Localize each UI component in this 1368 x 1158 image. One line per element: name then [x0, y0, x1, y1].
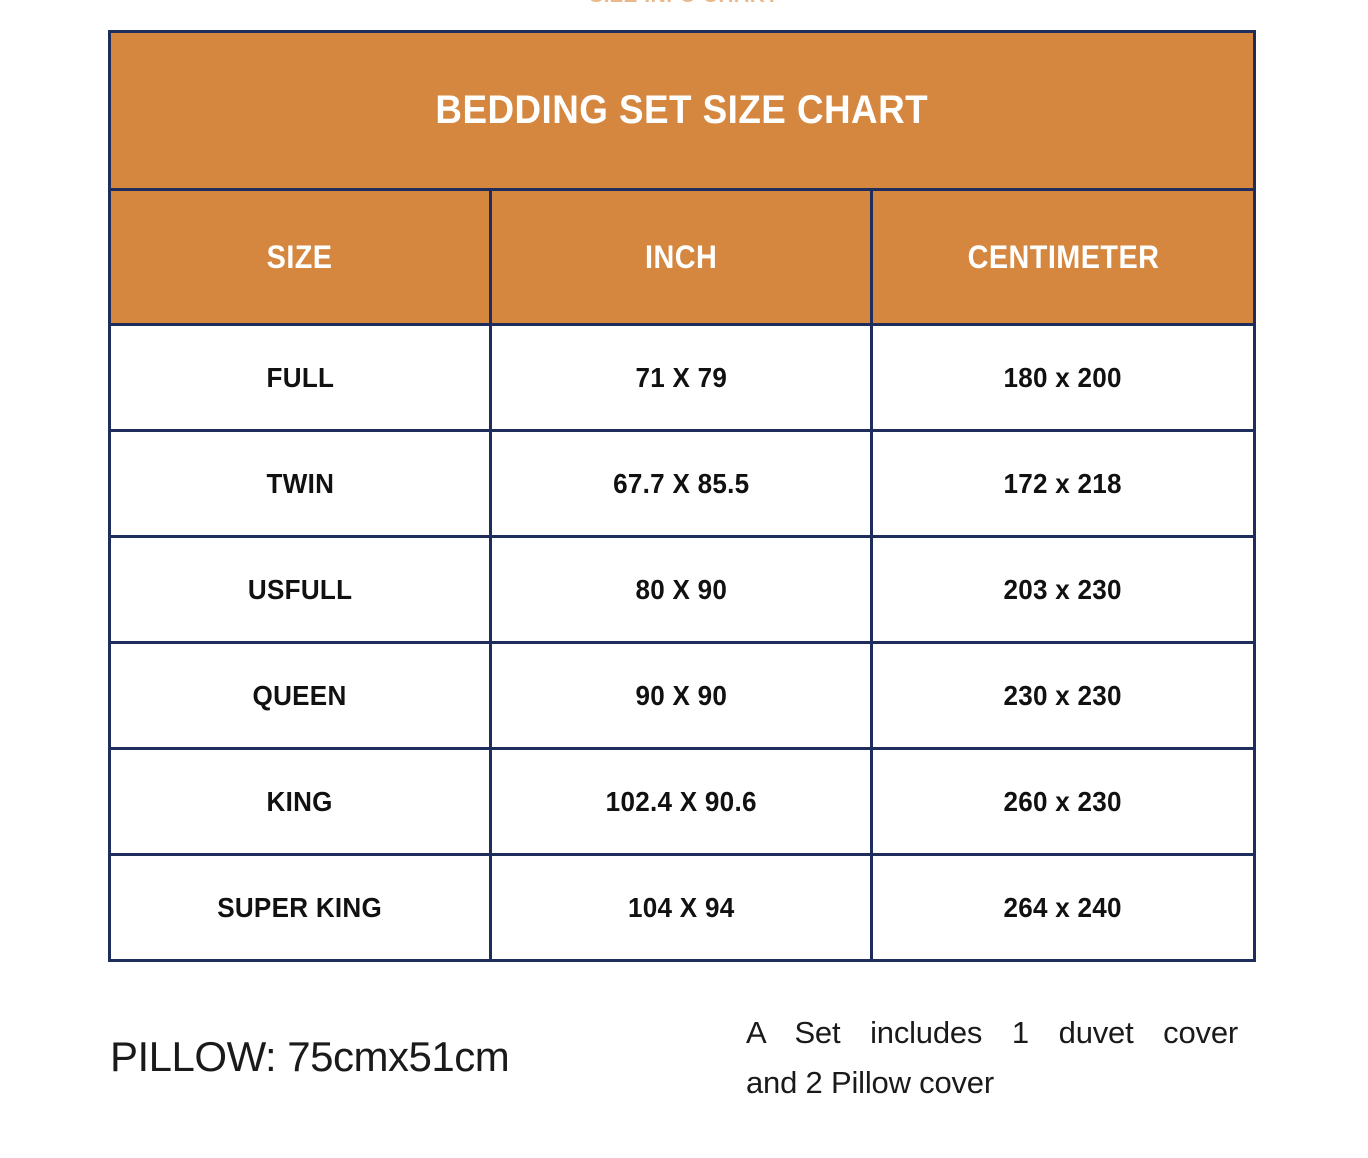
- cell-centimeter: 264 x 240: [872, 855, 1255, 961]
- cell-centimeter: 172 x 218: [872, 431, 1255, 537]
- cell-size: FULL: [110, 325, 491, 431]
- chart-title: BEDDING SET SIZE CHART: [436, 88, 929, 133]
- bedding-set-size-chart-table: BEDDING SET SIZE CHART SIZE INCH CENTIME…: [108, 30, 1256, 962]
- cell-centimeter: 180 x 200: [872, 325, 1255, 431]
- size-value: KING: [267, 786, 333, 818]
- cell-size: KING: [110, 749, 491, 855]
- centimeter-value: 260 x 230: [1004, 786, 1122, 818]
- column-header-inch: INCH: [491, 190, 872, 325]
- size-value: FULL: [266, 362, 334, 394]
- cell-centimeter: 260 x 230: [872, 749, 1255, 855]
- centimeter-value: 264 x 240: [1004, 892, 1122, 924]
- set-contents-note: A Set includes 1 duvet cover and 2 Pillo…: [746, 1008, 1238, 1108]
- column-header-size-label: SIZE: [267, 239, 333, 276]
- inch-value: 102.4 X 90.6: [605, 786, 756, 818]
- inch-value: 71 X 79: [635, 362, 727, 394]
- table-row: QUEEN 90 X 90 230 x 230: [110, 643, 1255, 749]
- table-row: KING 102.4 X 90.6 260 x 230: [110, 749, 1255, 855]
- table-header-row: SIZE INCH CENTIMETER: [110, 190, 1255, 325]
- inch-value: 67.7 X 85.5: [613, 468, 749, 500]
- size-value: QUEEN: [253, 680, 347, 712]
- table-row: FULL 71 X 79 180 x 200: [110, 325, 1255, 431]
- chart-title-cell: BEDDING SET SIZE CHART: [110, 32, 1255, 190]
- cell-inch: 90 X 90: [491, 643, 872, 749]
- size-value: SUPER KING: [218, 892, 383, 924]
- cell-centimeter: 230 x 230: [872, 643, 1255, 749]
- table-row: USFULL 80 X 90 203 x 230: [110, 537, 1255, 643]
- cell-inch: 67.7 X 85.5: [491, 431, 872, 537]
- inch-value: 90 X 90: [635, 680, 727, 712]
- column-header-size: SIZE: [110, 190, 491, 325]
- set-contents-note-line-1: A Set includes 1 duvet cover: [746, 1008, 1238, 1058]
- column-header-inch-label: INCH: [645, 239, 717, 276]
- centimeter-value: 180 x 200: [1004, 362, 1122, 394]
- cell-size: TWIN: [110, 431, 491, 537]
- column-header-centimeter-label: CENTIMETER: [967, 239, 1159, 276]
- cell-centimeter: 203 x 230: [872, 537, 1255, 643]
- inch-value: 104 X 94: [628, 892, 734, 924]
- cell-size: USFULL: [110, 537, 491, 643]
- cell-size: QUEEN: [110, 643, 491, 749]
- table-title-row: BEDDING SET SIZE CHART: [110, 32, 1255, 190]
- cell-inch: 71 X 79: [491, 325, 872, 431]
- centimeter-value: 172 x 218: [1004, 468, 1122, 500]
- table-row: TWIN 67.7 X 85.5 172 x 218: [110, 431, 1255, 537]
- inch-value: 80 X 90: [635, 574, 727, 606]
- column-header-centimeter: CENTIMETER: [872, 190, 1255, 325]
- clipped-top-heading: SIZE INFO CHART: [0, 0, 1368, 6]
- table-row: SUPER KING 104 X 94 264 x 240: [110, 855, 1255, 961]
- centimeter-value: 230 x 230: [1004, 680, 1122, 712]
- cell-inch: 80 X 90: [491, 537, 872, 643]
- centimeter-value: 203 x 230: [1004, 574, 1122, 606]
- size-value: USFULL: [248, 574, 352, 606]
- cell-inch: 104 X 94: [491, 855, 872, 961]
- cell-inch: 102.4 X 90.6: [491, 749, 872, 855]
- size-value: TWIN: [266, 468, 334, 500]
- set-contents-note-line-2: and 2 Pillow cover: [746, 1058, 1238, 1108]
- pillow-size-note: PILLOW: 75cmx51cm: [110, 1033, 509, 1081]
- cell-size: SUPER KING: [110, 855, 491, 961]
